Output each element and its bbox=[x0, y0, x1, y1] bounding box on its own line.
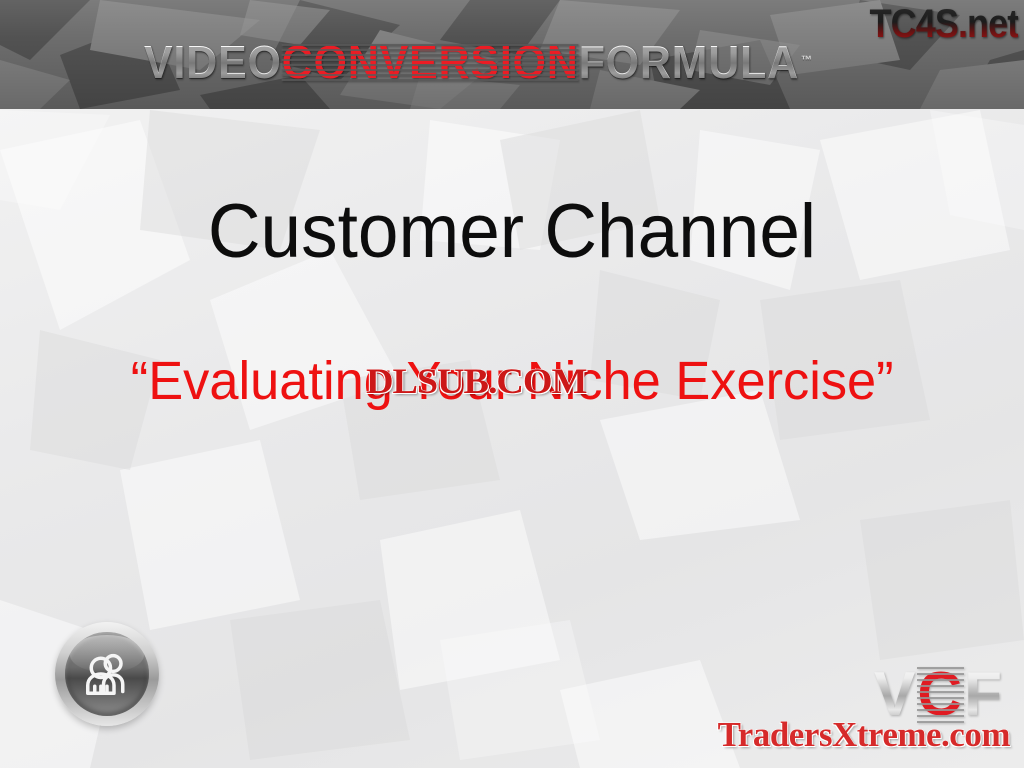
customer-audience-badge bbox=[55, 622, 159, 726]
presentation-slide: VIDEO CONVERSION FORMULA ™ TC4S.net Cust… bbox=[0, 0, 1024, 768]
brand-word-video: VIDEO bbox=[144, 39, 282, 85]
tradersxtreme-site-logo[interactable]: TradersXtreme.com bbox=[718, 716, 1010, 754]
tc4s-site-logo[interactable]: TC4S.net bbox=[869, 4, 1018, 44]
trademark-symbol: ™ bbox=[801, 37, 812, 83]
brand-word-formula: FORMULA bbox=[579, 39, 799, 85]
page-title: Customer Channel bbox=[20, 192, 1003, 272]
dlsub-watermark: DLSUB.COM bbox=[366, 362, 587, 400]
header-banner: VIDEO CONVERSION FORMULA ™ TC4S.net bbox=[0, 0, 1024, 109]
people-group-icon bbox=[65, 632, 149, 716]
brand-word-conversion: CONVERSION bbox=[282, 39, 579, 85]
brand-wordmark: VIDEO CONVERSION FORMULA ™ bbox=[144, 33, 812, 85]
